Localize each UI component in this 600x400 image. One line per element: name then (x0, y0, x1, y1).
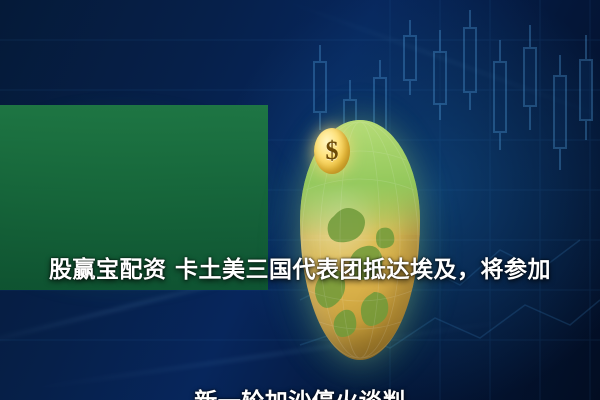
headline-line-1: 股赢宝配资 卡土美三国代表团抵达埃及，将参加 (0, 248, 600, 292)
news-thumbnail-image: $ 股赢宝配资 卡土美三国代表团抵达埃及，将参加 新一轮加沙停火谈判 (0, 0, 600, 400)
headline-line-2: 新一轮加沙停火谈判 (0, 380, 600, 400)
headline-text: 股赢宝配资 卡土美三国代表团抵达埃及，将参加 新一轮加沙停火谈判 (0, 160, 600, 400)
